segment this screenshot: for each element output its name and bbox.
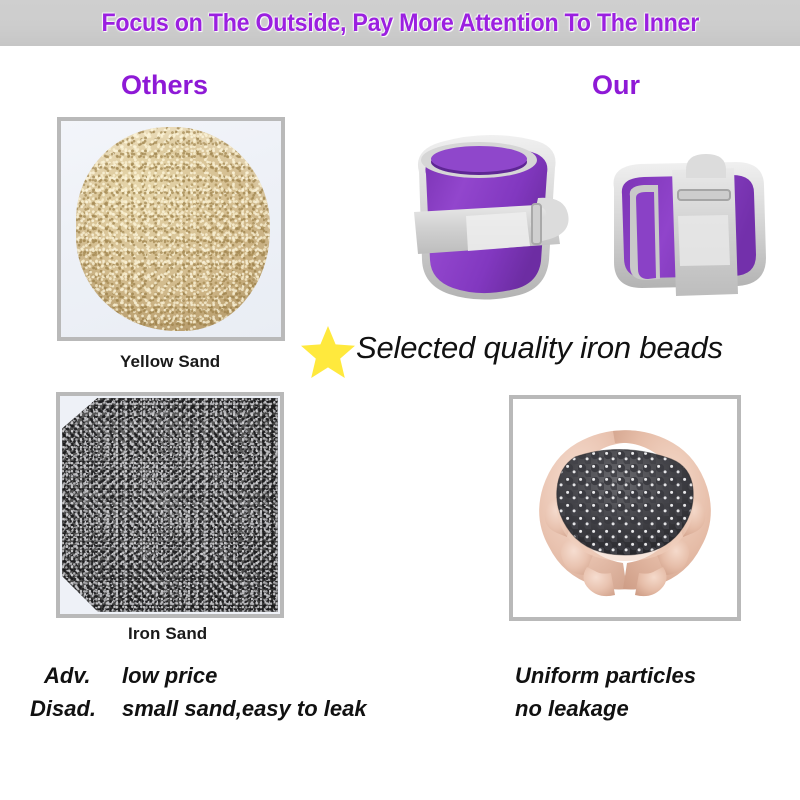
header-banner: Focus on The Outside, Pay More Attention…: [0, 0, 800, 46]
tagline-text: Selected quality iron beads: [356, 330, 723, 366]
yellow-sand-pile: [76, 127, 270, 330]
right-benefit-line-1: Uniform particles: [515, 663, 696, 689]
photo-ankle-weights: [386, 112, 776, 322]
left-disad-value: small sand,easy to leak: [122, 696, 367, 722]
banner-title: Focus on The Outside, Pay More Attention…: [101, 9, 698, 38]
star-icon: [299, 324, 357, 380]
steel-beads-pile: [557, 449, 693, 555]
column-heading-others: Others: [121, 70, 208, 101]
right-benefit-line-2: no leakage: [515, 696, 629, 722]
left-adv-value: low price: [122, 663, 217, 689]
yellow-sand-grain-texture: [76, 127, 270, 330]
photo-iron-beads: [509, 395, 741, 621]
left-adv-label: Adv.: [44, 663, 90, 689]
photo-iron-sand: [56, 392, 284, 618]
photo-yellow-sand: [57, 117, 285, 341]
column-heading-our: Our: [592, 70, 640, 101]
ankle-weight-right: [614, 154, 766, 296]
iron-beads-image: [513, 399, 737, 617]
hands-with-beads-illustration: [513, 399, 737, 617]
infographic-page: Focus on The Outside, Pay More Attention…: [0, 0, 800, 800]
iron-sand-mass: [62, 398, 278, 612]
ankle-weight-left: [414, 135, 569, 300]
caption-yellow-sand: Yellow Sand: [120, 352, 220, 372]
left-disad-label: Disad.: [30, 696, 96, 722]
iron-sand-grain-texture: [62, 398, 278, 612]
iron-sand-image: [60, 396, 280, 614]
yellow-sand-image: [61, 121, 281, 337]
caption-iron-sand: Iron Sand: [128, 624, 207, 644]
